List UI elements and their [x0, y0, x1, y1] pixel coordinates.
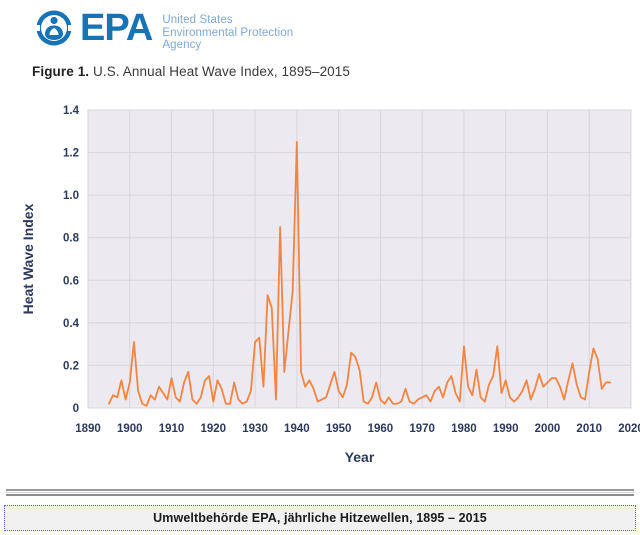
figure-page: EPA United States Environmental Protecti… [0, 0, 640, 535]
y-tick-1.4: 1.4 [63, 105, 80, 117]
plot-background [88, 110, 631, 408]
x-tick-1990: 1990 [493, 423, 519, 435]
epa-tagline-line-1: United States [162, 14, 293, 27]
x-tick-1950: 1950 [326, 423, 352, 435]
y-tick-1.0: 1.0 [63, 190, 79, 202]
x-tick-2020: 2020 [618, 423, 640, 435]
x-axis-tick-labels: 1890190019101920193019401950196019701980… [75, 423, 640, 435]
x-tick-1920: 1920 [201, 423, 227, 435]
epa-tagline-line-3: Agency [162, 39, 293, 52]
epa-tagline-line-2: Environmental Protection [162, 27, 293, 40]
epa-wordmark: EPA [80, 8, 152, 48]
x-tick-1930: 1930 [242, 423, 268, 435]
x-axis-title: Year [345, 449, 375, 465]
figure-title: U.S. Annual Heat Wave Index, 1895–2015 [93, 64, 350, 79]
epa-tagline: United States Environmental Protection A… [162, 8, 293, 52]
x-tick-1960: 1960 [368, 423, 394, 435]
german-caption-text: Umweltbehörde EPA, jährliche Hitzewellen… [153, 511, 487, 525]
x-tick-1940: 1940 [284, 423, 310, 435]
y-tick-0: 0 [73, 403, 79, 415]
y-axis-title: Heat Wave Index [20, 203, 36, 314]
chart-canvas: 00.20.40.60.81.01.21.4 18901900191019201… [0, 100, 640, 470]
x-tick-2000: 2000 [535, 423, 561, 435]
epa-branding: EPA United States Environmental Protecti… [34, 8, 293, 52]
figure-caption: Figure 1. U.S. Annual Heat Wave Index, 1… [32, 64, 350, 79]
y-tick-0.6: 0.6 [63, 275, 79, 287]
y-tick-0.4: 0.4 [63, 318, 80, 330]
x-tick-2010: 2010 [576, 423, 602, 435]
y-tick-0.2: 0.2 [63, 360, 79, 372]
y-tick-1.2: 1.2 [63, 148, 79, 160]
heat-wave-index-chart: 00.20.40.60.81.01.21.4 18901900191019201… [0, 100, 640, 470]
figure-label: Figure 1. [32, 64, 89, 79]
x-tick-1890: 1890 [75, 423, 101, 435]
x-tick-1900: 1900 [117, 423, 143, 435]
x-tick-1970: 1970 [409, 423, 435, 435]
german-caption-box: Umweltbehörde EPA, jährliche Hitzewellen… [4, 505, 636, 531]
y-axis-tick-labels: 00.20.40.60.81.01.21.4 [63, 105, 80, 415]
horizontal-divider [6, 489, 634, 498]
x-tick-1910: 1910 [159, 423, 185, 435]
epa-seal-icon [34, 8, 74, 48]
y-tick-0.8: 0.8 [63, 233, 80, 245]
x-tick-1980: 1980 [451, 423, 477, 435]
